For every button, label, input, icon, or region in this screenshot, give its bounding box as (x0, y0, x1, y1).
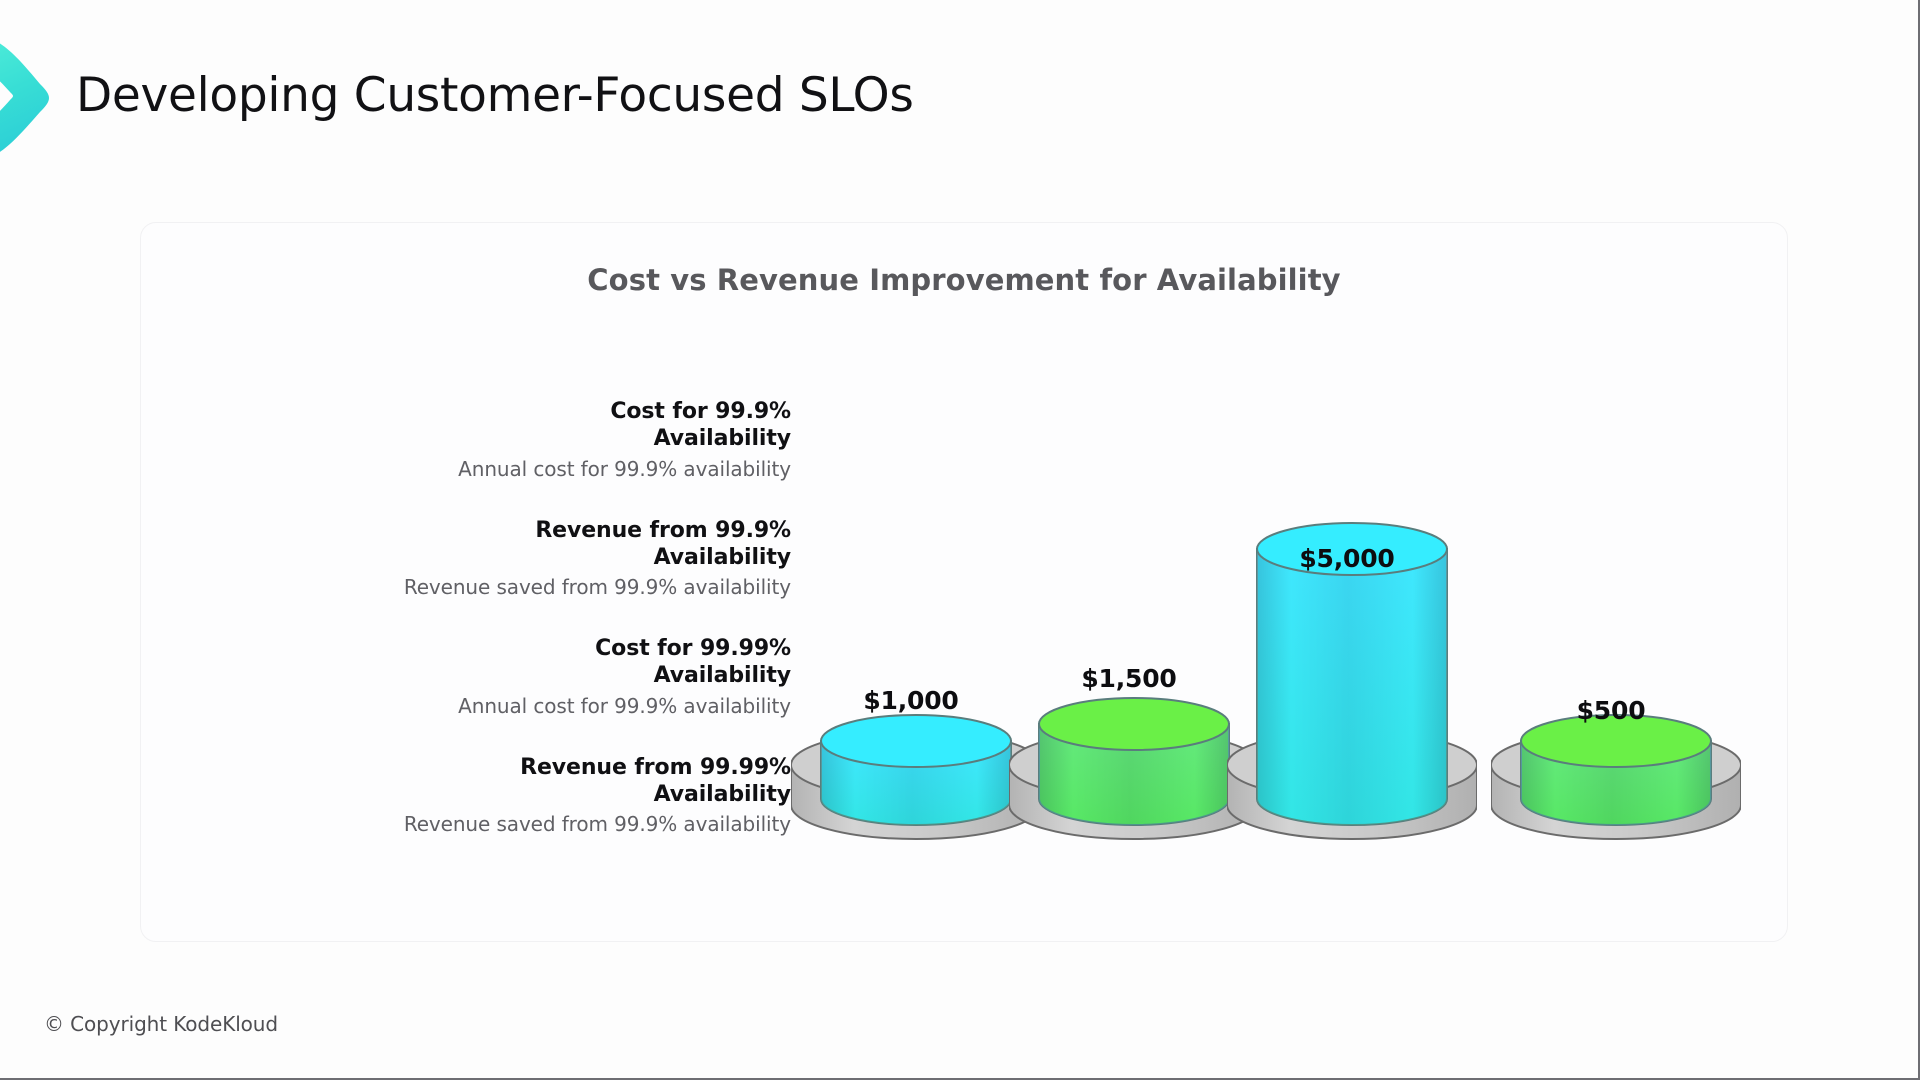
legend-item-subtitle: Annual cost for 99.9% availability (201, 456, 791, 482)
legend-title-line2: Availability (654, 663, 791, 688)
legend-item-title: Revenue from 99.99% Availability (201, 754, 791, 809)
slide-canvas: Developing Customer-Focused SLOs Cost vs… (0, 0, 1920, 1080)
legend-item-title: Cost for 99.99% Availability (201, 635, 791, 690)
bar-value-label: $1,500 (1009, 664, 1249, 693)
bar-slot-0: $1,000 (791, 705, 1031, 903)
legend-title-line1: Revenue from 99.9% (535, 518, 791, 543)
bar-slot-3: $500 (1491, 705, 1731, 903)
footer-copyright: © Copyright KodeKloud (44, 1012, 278, 1036)
legend-title-line2: Availability (654, 782, 791, 807)
cylinder-bar-0[interactable] (791, 705, 1031, 903)
legend-item-cost-9999: Cost for 99.99% Availability Annual cost… (201, 635, 791, 719)
cylinder-bar-3[interactable] (1491, 705, 1731, 903)
legend-title-line2: Availability (654, 545, 791, 570)
bar-value-label: $1,000 (791, 686, 1031, 715)
legend-item-revenue-9999: Revenue from 99.99% Availability Revenue… (201, 754, 791, 838)
legend-item-subtitle: Revenue saved from 99.9% availability (201, 574, 791, 600)
legend-title-line1: Revenue from 99.99% (520, 755, 791, 780)
chart-legend: Cost for 99.9% Availability Annual cost … (201, 398, 791, 837)
bar-slot-2: $5,000 (1227, 513, 1467, 903)
chart-title: Cost vs Revenue Improvement for Availabi… (141, 263, 1787, 297)
legend-item-subtitle: Revenue saved from 99.9% availability (201, 811, 791, 837)
cylinder-bar-1[interactable] (1009, 688, 1249, 903)
page-title: Developing Customer-Focused SLOs (76, 68, 914, 123)
legend-item-title: Revenue from 99.9% Availability (201, 517, 791, 572)
bar-value-label: $500 (1491, 696, 1731, 725)
legend-title-line2: Availability (654, 426, 791, 451)
bar-slot-1: $1,500 (1009, 688, 1249, 903)
bar-value-label: $5,000 (1227, 544, 1467, 573)
legend-title-line1: Cost for 99.9% (610, 399, 791, 424)
legend-item-revenue-999: Revenue from 99.9% Availability Revenue … (201, 517, 791, 601)
chart-card: Cost vs Revenue Improvement for Availabi… (140, 222, 1788, 942)
chart-plot-area: $1,000 (791, 373, 1757, 921)
legend-item-subtitle: Annual cost for 99.9% availability (201, 693, 791, 719)
legend-item-title: Cost for 99.9% Availability (201, 398, 791, 453)
legend-title-line1: Cost for 99.99% (595, 636, 791, 661)
legend-item-cost-999: Cost for 99.9% Availability Annual cost … (201, 398, 791, 482)
kodekloud-chevron-logo (0, 16, 76, 176)
